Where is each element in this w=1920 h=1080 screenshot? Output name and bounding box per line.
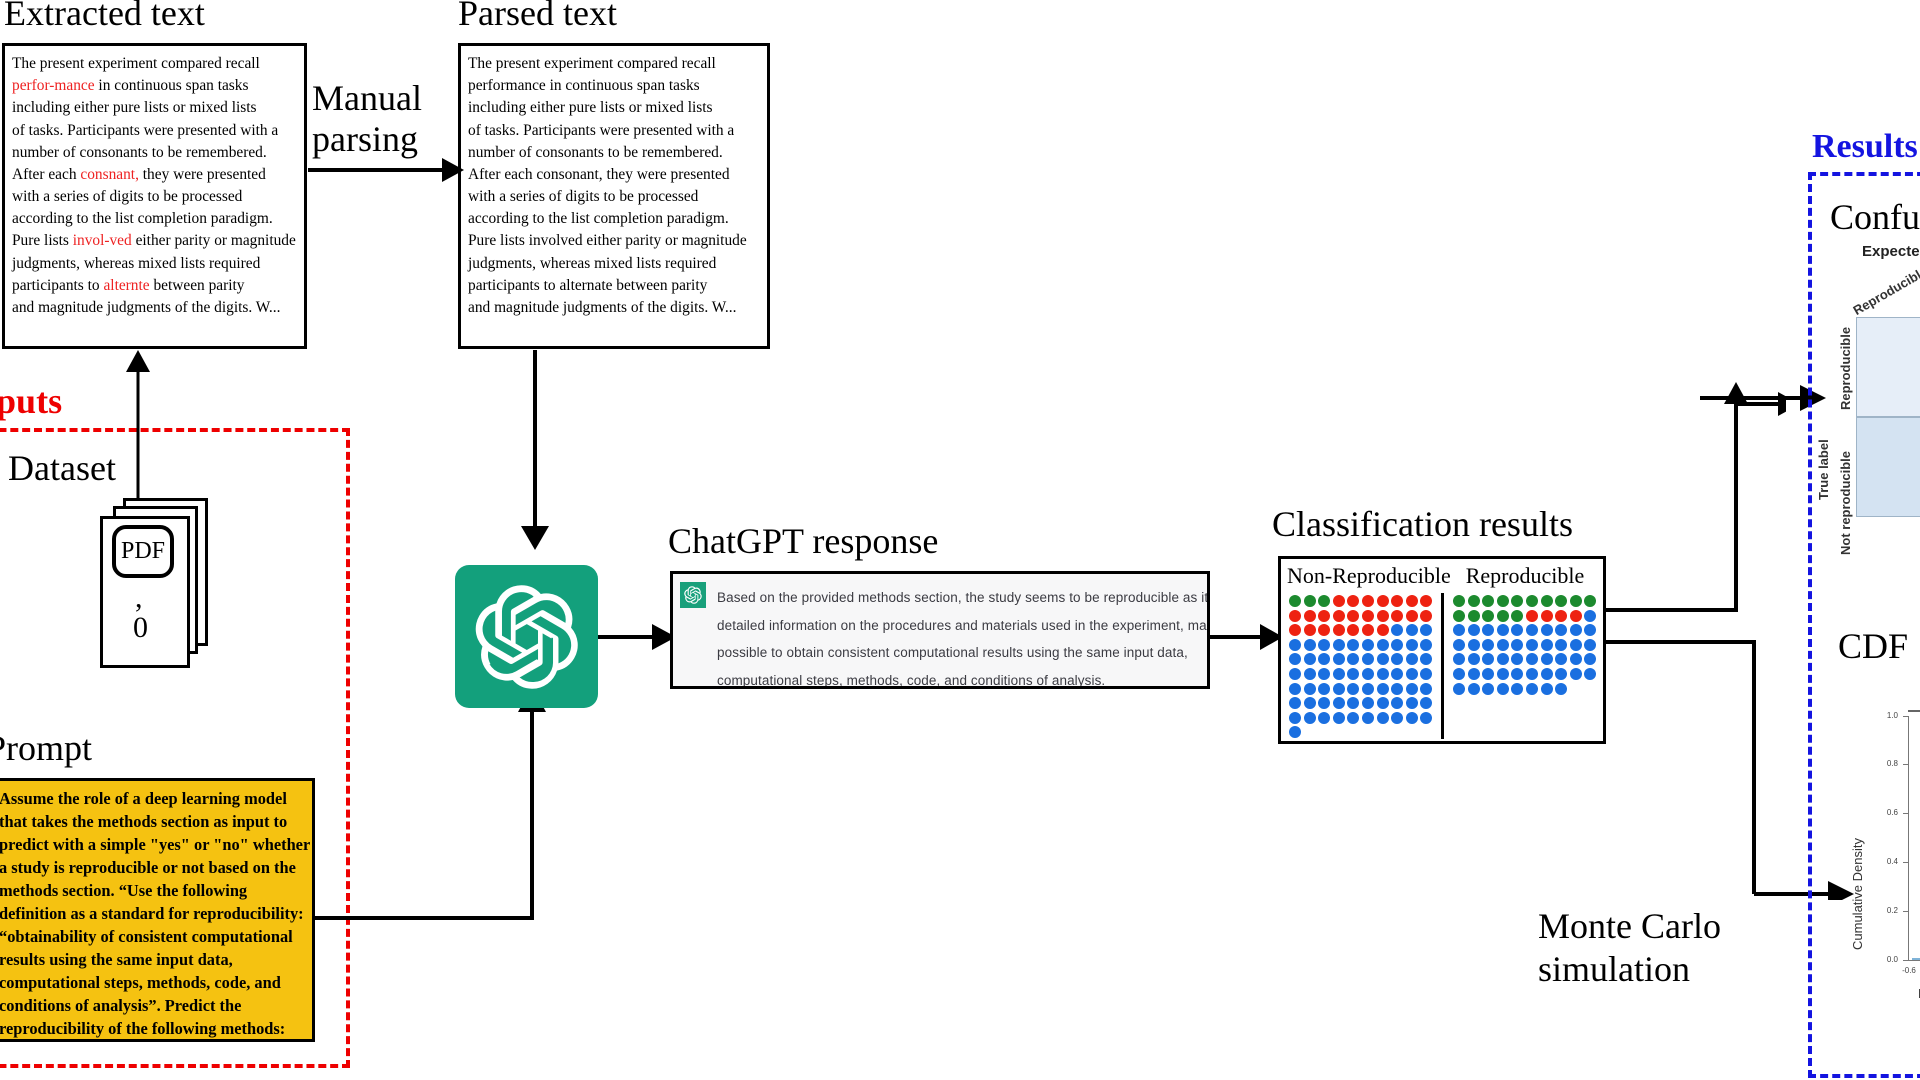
- classification-dot: [1333, 639, 1345, 651]
- confusion-matrix-title: Confusion matrix: [1830, 196, 1920, 238]
- classification-dot: [1420, 624, 1432, 636]
- classification-dot: [1391, 624, 1403, 636]
- arrow-response-to-classification: [1210, 617, 1285, 657]
- classification-dot: [1497, 610, 1509, 622]
- classification-dot: [1497, 668, 1509, 680]
- chatgpt-icon: [474, 584, 580, 690]
- classification-dot: [1377, 697, 1389, 709]
- classification-dot: [1482, 624, 1494, 636]
- classification-dot: [1347, 668, 1359, 680]
- arrow-parsed-to-chatgpt: [515, 350, 555, 550]
- prompt-box: Assume the role of a deep learning model…: [0, 778, 315, 1042]
- classification-dot: [1406, 624, 1418, 636]
- classification-dot: [1453, 624, 1465, 636]
- classification-dot: [1453, 610, 1465, 622]
- cdf-top-border: [1908, 710, 1920, 712]
- classification-dot: [1511, 610, 1523, 622]
- extracted-text-line: judgments, whereas mixed lists required: [12, 253, 298, 275]
- classification-dot: [1347, 624, 1359, 636]
- monte-carlo-label: Monte Carlo simulation: [1538, 905, 1721, 991]
- classification-dot: [1555, 595, 1567, 607]
- confusion-matrix-y-axis-title: True label: [1816, 439, 1831, 500]
- results-title: Results: [1812, 128, 1918, 166]
- prompt-line: conditions of analysis”. Predict the: [0, 995, 306, 1018]
- parsed-text-line: including either pure lists or mixed lis…: [468, 97, 761, 119]
- classification-dot: [1555, 639, 1567, 651]
- cdf-ytick-label-3: 0.6: [1872, 808, 1898, 817]
- classification-dot: [1570, 668, 1582, 680]
- classification-dot: [1318, 712, 1330, 724]
- classification-dot: [1304, 624, 1316, 636]
- parsed-text-box: The present experiment compared recallpe…: [458, 43, 770, 349]
- classification-dot: [1541, 610, 1553, 622]
- classification-dot: [1468, 653, 1480, 665]
- classification-dot: [1318, 610, 1330, 622]
- confusion-matrix-cell-1-0: 25: [1856, 417, 1920, 517]
- extracted-text-line: of tasks. Participants were presented wi…: [12, 120, 298, 142]
- manual-parsing-line1: Manual: [312, 78, 422, 119]
- prompt-line: “obtainability of consistent computation…: [0, 926, 306, 949]
- parsed-text-line: judgments, whereas mixed lists required: [468, 253, 761, 275]
- classification-dot: [1511, 624, 1523, 636]
- manual-parsing-label: Manual parsing: [312, 78, 422, 160]
- classification-dot: [1362, 668, 1374, 680]
- classification-dot: [1406, 668, 1418, 680]
- classification-dot: [1377, 712, 1389, 724]
- classification-dot: [1289, 639, 1301, 651]
- chatgpt-response-line: detailed information on the procedures a…: [717, 612, 1207, 640]
- classification-dot: [1333, 697, 1345, 709]
- prompt-line: methods section. “Use the following: [0, 880, 306, 903]
- confusion-matrix-cell-0-0: 15: [1856, 317, 1920, 417]
- extracted-text-line: Pure lists invol-ved either parity or ma…: [12, 230, 298, 252]
- cdf-ytick-label-2: 0.4: [1872, 857, 1898, 866]
- classification-dot: [1420, 683, 1432, 695]
- classification-dot: [1391, 683, 1403, 695]
- classification-dot: [1391, 610, 1403, 622]
- classification-dot: [1377, 595, 1389, 607]
- classification-dot: [1318, 639, 1330, 651]
- cdf-plot: Cumulative Density 0.0 0.2 0.4 0.6 0.8 1…: [1840, 700, 1920, 1030]
- classification-dot: [1333, 624, 1345, 636]
- classification-dot: [1420, 653, 1432, 665]
- chatgpt-response-line: Based on the provided methods section, t…: [717, 584, 1207, 612]
- parsed-text-line: The present experiment compared recall: [468, 53, 761, 75]
- classification-dot: [1526, 668, 1538, 680]
- classification-dot: [1347, 595, 1359, 607]
- classification-dot: [1511, 683, 1523, 695]
- classification-dot: [1468, 595, 1480, 607]
- dataset-title: Dataset: [8, 447, 116, 489]
- pdf-sheet-front: PDF , 0: [100, 516, 190, 668]
- classification-dot: [1584, 624, 1596, 636]
- classification-dot: [1391, 697, 1403, 709]
- classification-dot: [1511, 639, 1523, 651]
- classification-dot: [1570, 653, 1582, 665]
- classification-dot: [1377, 610, 1389, 622]
- parsed-text-line: number of consonants to be remembered.: [468, 142, 761, 164]
- classification-dot: [1541, 624, 1553, 636]
- classification-dot: [1584, 639, 1596, 651]
- prompt-line: definition as a standard for reproducibi…: [0, 903, 306, 926]
- classification-dot: [1304, 712, 1316, 724]
- chatgpt-logo-tile: [455, 565, 598, 708]
- extracted-text-line: The present experiment compared recall: [12, 53, 298, 75]
- classification-dot: [1570, 639, 1582, 651]
- cdf-xtick-label-0: -0.6: [1894, 966, 1920, 975]
- classification-dot: [1541, 653, 1553, 665]
- confusion-matrix-row-label-reproducible: Reproducible: [1838, 327, 1853, 410]
- classification-dot: [1511, 668, 1523, 680]
- classification-dot: [1289, 624, 1301, 636]
- classification-dot: [1391, 668, 1403, 680]
- classification-dot: [1497, 639, 1509, 651]
- classification-dot: [1406, 712, 1418, 724]
- classification-dot: [1555, 624, 1567, 636]
- classification-dot: [1333, 653, 1345, 665]
- classification-dot: [1541, 595, 1553, 607]
- classification-dot: [1584, 653, 1596, 665]
- classification-column-header-1: Reproducible: [1449, 563, 1601, 589]
- classification-dot: [1318, 668, 1330, 680]
- classification-dot: [1453, 668, 1465, 680]
- classification-dot: [1453, 639, 1465, 651]
- classification-dot: [1377, 668, 1389, 680]
- classification-dot: [1497, 624, 1509, 636]
- extracted-text-line: number of consonants to be remembered.: [12, 142, 298, 164]
- chatgpt-icon-small: [684, 586, 702, 604]
- cdf-x-axis: [1908, 960, 1920, 961]
- classification-dot: [1468, 668, 1480, 680]
- prompt-line: that takes the methods section as input …: [0, 811, 306, 834]
- classification-dot: [1482, 653, 1494, 665]
- classification-dot: [1289, 668, 1301, 680]
- classification-dot: [1304, 639, 1316, 651]
- chatgpt-response-box: Based on the provided methods section, t…: [670, 571, 1210, 689]
- classification-dot: [1482, 683, 1494, 695]
- classification-dot: [1362, 610, 1374, 622]
- classification-dot: [1362, 595, 1374, 607]
- cdf-ytick-label-4: 0.8: [1872, 759, 1898, 768]
- extracted-text-line: according to the list completion paradig…: [12, 208, 298, 230]
- classification-dot: [1453, 595, 1465, 607]
- classification-dot: [1420, 595, 1432, 607]
- classification-dot: [1318, 653, 1330, 665]
- classification-dot: [1420, 712, 1432, 724]
- prompt-line: Assume the role of a deep learning model: [0, 788, 306, 811]
- cdf-ytick-2: [1903, 862, 1908, 863]
- extracted-text-title: Extracted text: [4, 0, 205, 34]
- classification-dot: [1420, 639, 1432, 651]
- classification-dot: [1420, 697, 1432, 709]
- cdf-series-line: [1912, 958, 1920, 960]
- classification-dot: [1526, 639, 1538, 651]
- classification-dot: [1406, 683, 1418, 695]
- classification-dot: [1406, 639, 1418, 651]
- cdf-ytick-1: [1903, 911, 1908, 912]
- dataset-pdf-stack: PDF , 0: [95, 498, 225, 678]
- pdf-glyph-comma: ,: [135, 581, 143, 615]
- classification-dot: [1304, 683, 1316, 695]
- prompt-line: computational steps, methods, code, and: [0, 972, 306, 995]
- classification-dot: [1497, 683, 1509, 695]
- extracted-text-box: The present experiment compared recallpe…: [2, 43, 307, 349]
- classification-dot: [1526, 610, 1538, 622]
- cdf-ytick-4: [1903, 764, 1908, 765]
- chatgpt-response-line: possible to obtain consistent computatio…: [717, 639, 1207, 667]
- classification-dot: [1289, 653, 1301, 665]
- classification-dot: [1555, 610, 1567, 622]
- cdf-ytick-label-0: 0.0: [1872, 955, 1898, 964]
- arrow-chatgpt-to-response: [598, 617, 678, 657]
- classification-dot: [1347, 683, 1359, 695]
- classification-dot: [1555, 668, 1567, 680]
- classification-dot: [1362, 653, 1374, 665]
- extracted-text-line: with a series of digits to be processed: [12, 186, 298, 208]
- confusion-matrix-top-label: Expected: [1862, 243, 1920, 260]
- parsed-text-title: Parsed text: [458, 0, 617, 34]
- classification-dot: [1289, 697, 1301, 709]
- classification-dot: [1318, 683, 1330, 695]
- classification-results-box: Non-Reproducible Reproducible: [1278, 556, 1606, 744]
- cdf-ytick-3: [1903, 813, 1908, 814]
- classification-dot: [1468, 610, 1480, 622]
- diagram-canvas: Inputs Extracted text The present experi…: [0, 0, 1920, 1080]
- classification-dot: [1304, 653, 1316, 665]
- classification-dot: [1406, 610, 1418, 622]
- cdf-ytick-label-1: 0.2: [1872, 906, 1898, 915]
- cdf-ytick-0: [1903, 960, 1908, 961]
- classification-dot: [1406, 697, 1418, 709]
- classification-dot: [1347, 712, 1359, 724]
- classification-dot: [1468, 639, 1480, 651]
- classification-results-title: Classification results: [1272, 503, 1573, 545]
- prompt-title: Prompt: [0, 727, 92, 769]
- classification-dot: [1526, 624, 1538, 636]
- extracted-text-line: perfor-mance in continuous span tasks: [12, 75, 298, 97]
- classification-dot: [1304, 668, 1316, 680]
- classification-dot: [1362, 712, 1374, 724]
- monte-carlo-line2: simulation: [1538, 948, 1721, 991]
- classification-dot: [1468, 624, 1480, 636]
- classification-dot: [1541, 639, 1553, 651]
- classification-dot: [1406, 653, 1418, 665]
- classification-column-header-0: Non-Reproducible: [1287, 563, 1439, 589]
- classification-dot: [1526, 683, 1538, 695]
- monte-carlo-line1: Monte Carlo: [1538, 905, 1721, 948]
- classification-dot: [1541, 683, 1553, 695]
- parsed-text-line: and magnitude judgments of the digits. W…: [468, 297, 761, 319]
- prompt-line: reproducibility of the following methods…: [0, 1018, 306, 1041]
- classification-dot: [1289, 595, 1301, 607]
- classification-dot: [1318, 595, 1330, 607]
- prompt-line: predict with a simple "yes" or "no" whet…: [0, 834, 306, 857]
- classification-dot: [1420, 668, 1432, 680]
- classification-dot: [1526, 595, 1538, 607]
- chatgpt-response-title: ChatGPT response: [668, 520, 938, 562]
- extracted-text-line: including either pure lists or mixed lis…: [12, 97, 298, 119]
- classification-dot: [1347, 697, 1359, 709]
- classification-dot: [1391, 653, 1403, 665]
- inputs-title: Inputs: [0, 380, 62, 422]
- extracted-text-line: After each consnant, they were presented: [12, 164, 298, 186]
- classification-dot: [1482, 668, 1494, 680]
- chatgpt-response-text: Based on the provided methods section, t…: [717, 584, 1207, 689]
- classification-dot: [1570, 610, 1582, 622]
- classification-dot: [1289, 726, 1301, 738]
- cdf-y-axis: [1908, 716, 1909, 960]
- classification-dot: [1497, 653, 1509, 665]
- classification-dot: [1482, 639, 1494, 651]
- classification-dot: [1570, 595, 1582, 607]
- cdf-y-axis-label: Cumulative Density: [1850, 838, 1865, 950]
- classification-dot: [1347, 610, 1359, 622]
- extracted-text-line: and magnitude judgments of the digits. W…: [12, 297, 298, 319]
- classification-dot: [1362, 624, 1374, 636]
- classification-dot: [1289, 712, 1301, 724]
- classification-dot: [1333, 595, 1345, 607]
- classification-dot: [1362, 639, 1374, 651]
- classification-dot: [1377, 653, 1389, 665]
- pdf-glyph-zero: 0: [133, 611, 148, 645]
- classification-dot: [1420, 610, 1432, 622]
- parsed-text-line: with a series of digits to be processed: [468, 186, 761, 208]
- cdf-ytick-label-5: 1.0: [1872, 711, 1898, 720]
- classification-dot: [1497, 595, 1509, 607]
- classification-dot: [1555, 653, 1567, 665]
- classification-dot: [1526, 653, 1538, 665]
- parsed-text-line: performance in continuous span tasks: [468, 75, 761, 97]
- classification-dot: [1468, 683, 1480, 695]
- cdf-title: CDF: [1838, 625, 1908, 667]
- confusion-matrix-row-label-not-reproducible: Not reproducible: [1838, 451, 1853, 555]
- classification-dot: [1304, 697, 1316, 709]
- classification-dot: [1482, 595, 1494, 607]
- classification-dot: [1453, 653, 1465, 665]
- parsed-text-line: of tasks. Participants were presented wi…: [468, 120, 761, 142]
- classification-dot: [1482, 610, 1494, 622]
- parsed-text-line: participants to alternate between parity: [468, 275, 761, 297]
- classification-dot: [1584, 668, 1596, 680]
- pdf-label-badge: PDF: [112, 525, 174, 578]
- classification-divider: [1441, 593, 1444, 739]
- classification-dot: [1570, 624, 1582, 636]
- classification-dot: [1318, 697, 1330, 709]
- classification-dot: [1584, 595, 1596, 607]
- prompt-line: a study is reproducible or not based on …: [0, 857, 306, 880]
- classification-dot: [1304, 595, 1316, 607]
- prompt-line: results using the same input data,: [0, 949, 306, 972]
- classification-dot: [1584, 610, 1596, 622]
- classification-dot: [1304, 610, 1316, 622]
- classification-dot: [1391, 595, 1403, 607]
- classification-dot: [1541, 668, 1553, 680]
- classification-dot: [1377, 624, 1389, 636]
- classification-dot: [1318, 624, 1330, 636]
- chatgpt-response-line: computational steps, methods, code, and …: [717, 667, 1207, 689]
- classification-dot: [1377, 683, 1389, 695]
- classification-dot: [1289, 610, 1301, 622]
- pdf-label: PDF: [121, 538, 165, 565]
- classification-dot: [1333, 683, 1345, 695]
- parsed-text-line: After each consonant, they were presente…: [468, 164, 761, 186]
- classification-dot: [1333, 610, 1345, 622]
- cdf-ytick-5: [1903, 716, 1908, 717]
- classification-dot: [1333, 668, 1345, 680]
- classification-dot: [1377, 639, 1389, 651]
- parsed-text-line: according to the list completion paradig…: [468, 208, 761, 230]
- extracted-text-line: participants to alternte between parity: [12, 275, 298, 297]
- arrow-extracted-to-parsed: [306, 150, 466, 190]
- parsed-text-line: Pure lists involved either parity or mag…: [468, 230, 761, 252]
- classification-dot: [1362, 697, 1374, 709]
- confusion-matrix-grid: 15 25: [1856, 317, 1920, 561]
- classification-dot: [1555, 683, 1567, 695]
- chatgpt-response-avatar-icon: [680, 582, 706, 608]
- classification-dot: [1511, 653, 1523, 665]
- classification-dot: [1347, 639, 1359, 651]
- arrow-dataset-to-extracted: [118, 348, 158, 508]
- classification-dot: [1391, 639, 1403, 651]
- classification-dot: [1333, 712, 1345, 724]
- classification-dot: [1391, 712, 1403, 724]
- classification-dot: [1511, 595, 1523, 607]
- classification-dot: [1406, 595, 1418, 607]
- classification-dot: [1347, 653, 1359, 665]
- classification-dot: [1289, 683, 1301, 695]
- classification-dot: [1453, 683, 1465, 695]
- classification-dot: [1362, 683, 1374, 695]
